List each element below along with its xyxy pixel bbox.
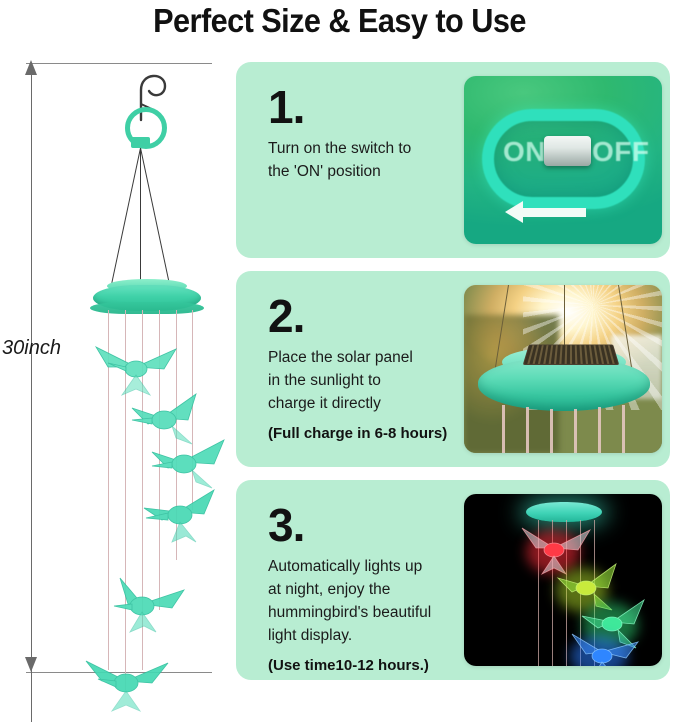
step-1-text-block: 1. Turn on the switch to the 'ON' positi… xyxy=(268,84,483,183)
steps-list: 1. Turn on the switch to the 'ON' positi… xyxy=(236,62,670,693)
dimension-arrow-down-icon xyxy=(25,657,37,672)
suspension-string xyxy=(140,148,171,290)
switch-knob xyxy=(544,136,591,166)
chime-cord xyxy=(502,405,505,453)
step-2-text-block: 2. Place the solar panel in the sunlight… xyxy=(268,293,483,442)
suspension-string xyxy=(110,148,141,290)
step-3-text-block: 3. Automatically lights up at night, enj… xyxy=(268,502,483,674)
chime-cord xyxy=(598,407,601,453)
chime-cord xyxy=(574,409,577,453)
dimension-arrow-up-icon xyxy=(25,60,37,75)
solar-panel xyxy=(523,344,620,364)
product-illustration: 30inch xyxy=(0,52,228,684)
step-3-media xyxy=(464,494,662,666)
switch-on-label: ON xyxy=(503,136,546,168)
hummingbird-figure xyxy=(132,482,228,544)
step-3-body: Automatically lights up at night, enjoy … xyxy=(268,555,483,647)
step-card-3: 3. Automatically lights up at night, enj… xyxy=(236,480,670,680)
step-1-body: Turn on the switch to the 'ON' position xyxy=(268,137,483,183)
step-2-note: (Full charge in 6-8 hours) xyxy=(268,425,483,442)
dimension-line xyxy=(31,64,32,722)
hummingbird-figure xyxy=(76,647,176,713)
dimension-label: 30inch xyxy=(2,337,61,360)
step-1-media: ON OFF xyxy=(464,76,662,244)
left-arrow-icon xyxy=(522,208,586,217)
switch-off-label: OFF xyxy=(592,136,650,168)
hummingbird-blue xyxy=(558,628,646,666)
step-3-note: (Use time10-12 hours.) xyxy=(268,657,483,674)
step-2-body: Place the solar panel in the sunlight to… xyxy=(268,346,483,415)
infographic-page: Perfect Size & Easy to Use 30inch xyxy=(0,0,679,684)
page-title: Perfect Size & Easy to Use xyxy=(24,2,655,40)
step-card-2: 2. Place the solar panel in the sunlight… xyxy=(236,271,670,467)
chime-cord xyxy=(550,409,553,453)
solar-disc xyxy=(478,357,650,411)
hummingbird-figure xyxy=(98,572,194,634)
step-card-1: 1. Turn on the switch to the 'ON' positi… xyxy=(236,62,670,258)
chime-cord xyxy=(526,407,529,453)
step-1-number: 1. xyxy=(268,84,483,130)
chime-cord xyxy=(622,405,625,453)
ring-base xyxy=(131,137,150,148)
solar-disc-glowing xyxy=(526,502,602,522)
step-2-number: 2. xyxy=(268,293,483,339)
step-3-number: 3. xyxy=(268,502,483,548)
step-2-media xyxy=(464,285,662,453)
suspension-string xyxy=(140,148,141,288)
